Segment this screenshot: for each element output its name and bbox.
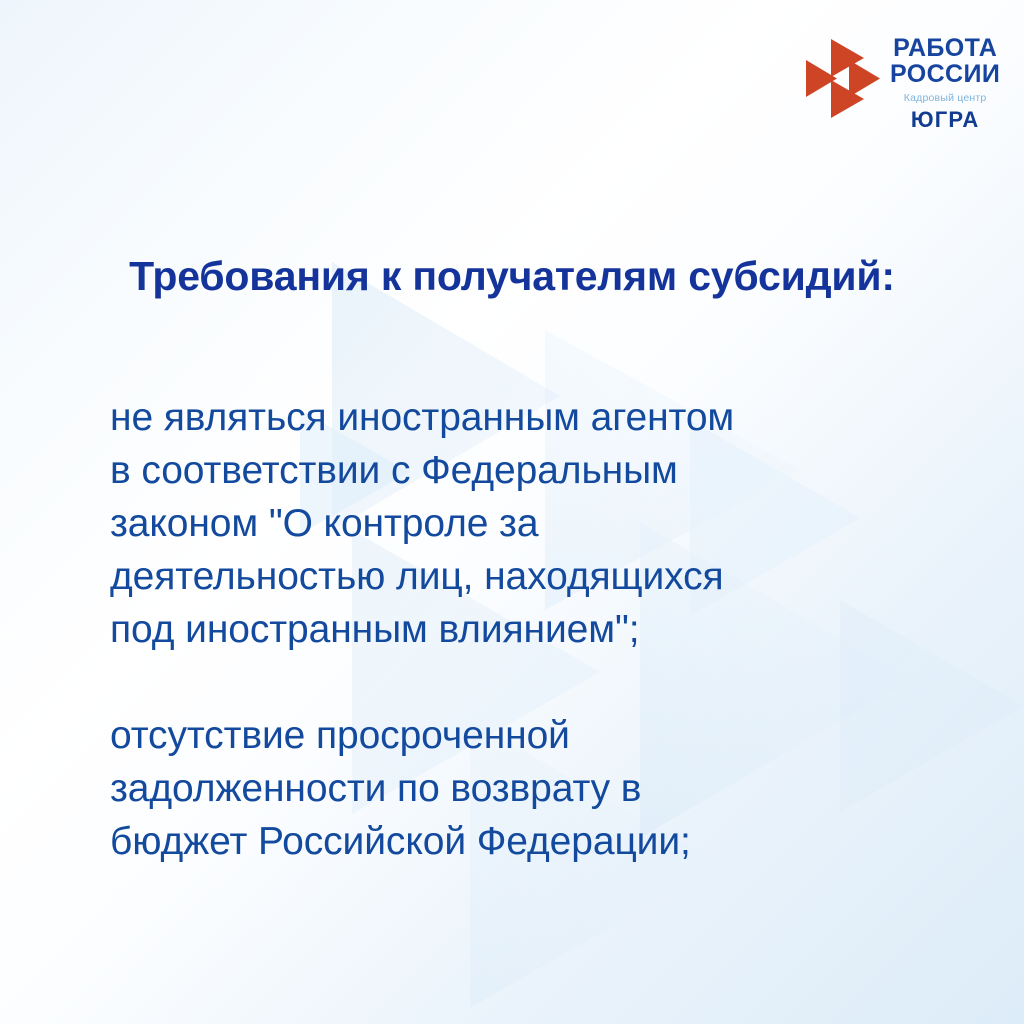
brand-line-1: РАБОТА [893, 36, 997, 62]
requirement-line: задолженности по возврату в [110, 762, 960, 815]
brand-logo: РАБОТА РОССИИ Кадровый центр ЮГРА [804, 32, 1002, 144]
requirement-line: деятельностью лиц, находящихся [110, 550, 960, 603]
page-title: Требования к получателям субсидий: [0, 253, 1024, 300]
brand-subtitle: Кадровый центр [904, 91, 987, 107]
rabota-rossii-pinwheel-mark [804, 34, 882, 122]
requirement-paragraph-1: не являться иностранным агентом в соотве… [110, 391, 960, 656]
requirement-paragraph-2: отсутствие просроченной задолженности по… [110, 709, 960, 868]
requirement-line: под иностранным влиянием"; [110, 603, 960, 656]
requirement-line: законом "О контроле за [110, 497, 960, 550]
brand-region: ЮГРА [911, 107, 980, 132]
requirement-line: отсутствие просроченной [110, 709, 960, 762]
requirement-line: в соответствии с Федеральным [110, 444, 960, 497]
brand-line-2: РОССИИ [890, 62, 1000, 88]
brand-wordmark: РАБОТА РОССИИ Кадровый центр ЮГРА [890, 32, 1000, 133]
slide-canvas: РАБОТА РОССИИ Кадровый центр ЮГРА Требов… [0, 0, 1024, 1024]
requirements-list: не являться иностранным агентом в соотве… [110, 352, 960, 907]
requirement-line: бюджет Российской Федерации; [110, 815, 960, 868]
requirement-line: не являться иностранным агентом [110, 391, 960, 444]
